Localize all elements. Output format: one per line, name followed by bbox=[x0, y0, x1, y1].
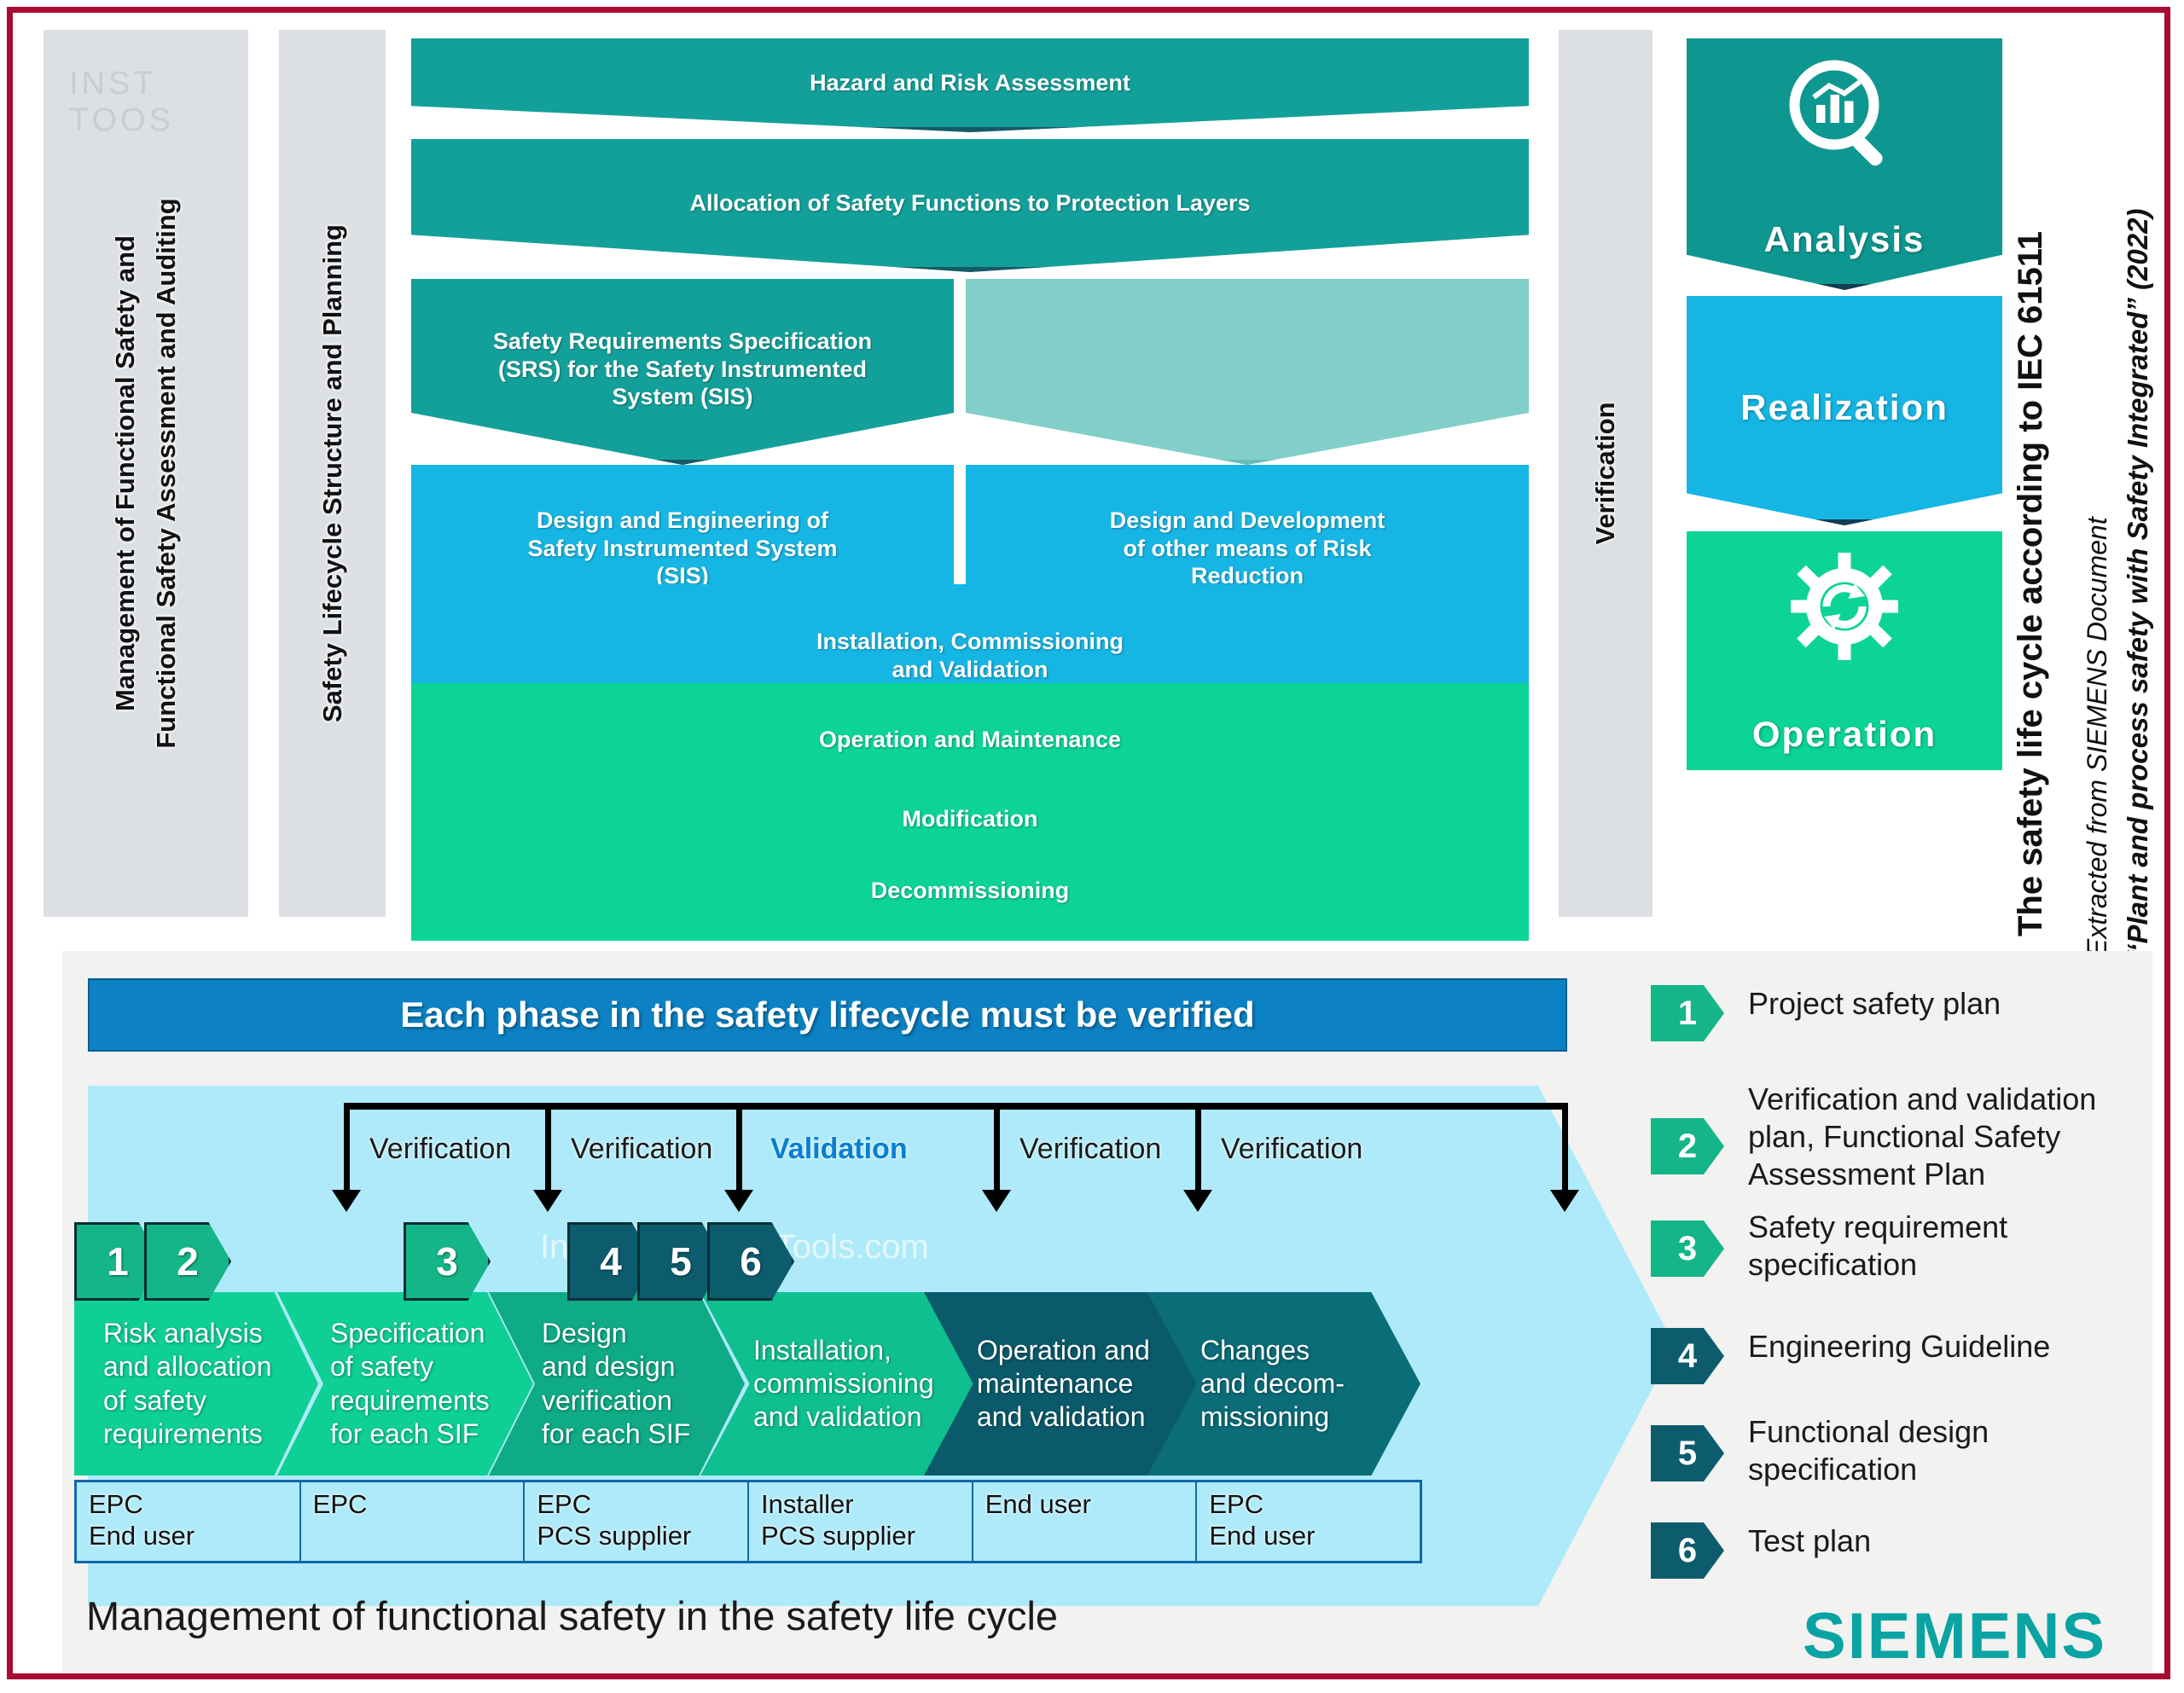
step-line: and design bbox=[542, 1350, 690, 1383]
step-line: of safety bbox=[330, 1350, 490, 1383]
legend-line: Functional design bbox=[1748, 1413, 1989, 1451]
column-management-of-functional-safety: INST TOOS Management of Functional Safet… bbox=[44, 30, 248, 917]
responsibility-line: EPC bbox=[89, 1489, 299, 1521]
legend-line: specification bbox=[1748, 1451, 1989, 1488]
top-panel: INST TOOS Management of Functional Safet… bbox=[32, 23, 2156, 923]
legend-text-3: Safety requirement specification bbox=[1748, 1209, 2007, 1284]
phase-blocks: Analysis Realization bbox=[1687, 38, 2002, 917]
chevron-label-line: Design and Engineering of bbox=[527, 507, 837, 535]
bottom-panel: Each phase in the safety lifecycle must … bbox=[62, 951, 2152, 1672]
legend-number: 6 bbox=[1678, 1532, 1697, 1570]
legend-badge-3: 3 bbox=[1651, 1220, 1724, 1277]
responsibility-cell: EPC End user bbox=[1197, 1482, 1420, 1561]
badge-number: 4 bbox=[600, 1238, 622, 1284]
right-subtitle-line2: “Plant and process safety with Safety In… bbox=[2122, 209, 2154, 958]
legend-line: Test plan bbox=[1748, 1522, 1871, 1560]
step-line: missioning bbox=[1200, 1400, 1345, 1434]
chevron-label: Operation and Maintenance bbox=[819, 726, 1121, 754]
responsibility-line: EPC bbox=[313, 1489, 524, 1521]
badge-number: 6 bbox=[740, 1238, 762, 1284]
legend-line: plan, Functional Safety bbox=[1748, 1118, 2096, 1156]
legend: 1 Project safety plan 2 Verification and… bbox=[1651, 977, 2146, 1591]
responsibility-row: EPC End user EPC EPC PCS supplier Instal… bbox=[74, 1480, 1422, 1563]
column1-line1: Management of Functional Safety and bbox=[105, 198, 146, 748]
chevron-label-line: and Validation bbox=[816, 656, 1124, 684]
siemens-logo: SIEMENS bbox=[1803, 1599, 2106, 1673]
chevron-label-line: Installation, Commissioning bbox=[816, 628, 1124, 656]
chevron-label-line: Safety Instrumented System bbox=[527, 535, 837, 563]
chevron-allocation-of-safety-functions: Allocation of Safety Functions to Protec… bbox=[411, 139, 1529, 272]
chevron-decommissioning: Decommissioning bbox=[411, 840, 1529, 941]
step-line: Operation and bbox=[977, 1334, 1150, 1367]
step-line: Installation, bbox=[753, 1334, 934, 1367]
step-line: requirements bbox=[330, 1384, 490, 1418]
chevron-label-line: (SRS) for the Safety Instrumented bbox=[493, 356, 872, 384]
legend-line: Verification and validation bbox=[1748, 1081, 2096, 1118]
badge-number: 1 bbox=[107, 1238, 129, 1284]
step-line: Specification bbox=[330, 1317, 490, 1350]
legend-number: 4 bbox=[1678, 1337, 1697, 1376]
legend-number: 5 bbox=[1678, 1435, 1697, 1473]
phase-block-operation: Operation bbox=[1687, 531, 2002, 770]
chevron-label: Allocation of Safety Functions to Protec… bbox=[689, 189, 1250, 217]
chevron-other-risk-reduction-placeholder bbox=[966, 279, 1529, 465]
chevron-label-line: Design and Development bbox=[1110, 507, 1385, 535]
legend-text-6: Test plan bbox=[1748, 1522, 1871, 1560]
responsibility-cell: Installer PCS supplier bbox=[749, 1482, 973, 1561]
step-line: commissioning bbox=[753, 1367, 934, 1400]
legend-line: Project safety plan bbox=[1748, 985, 2001, 1023]
verification-column-label: Verification bbox=[1590, 402, 1621, 544]
step-badge-3: 3 bbox=[404, 1222, 491, 1301]
responsibility-line: End user bbox=[1209, 1521, 1420, 1552]
step-line: maintenance bbox=[977, 1367, 1150, 1400]
legend-line: Assessment Plan bbox=[1748, 1156, 2096, 1193]
column-verification: Verification bbox=[1559, 30, 1653, 917]
chevron-label-line: System (SIS) bbox=[493, 383, 872, 411]
badge-number: 2 bbox=[177, 1238, 199, 1284]
legend-number: 1 bbox=[1678, 994, 1697, 1033]
badge-number: 5 bbox=[670, 1238, 692, 1284]
legend-item-1: 1 Project safety plan bbox=[1651, 985, 2001, 1041]
legend-item-4: 4 Engineering Guideline bbox=[1651, 1328, 2050, 1384]
responsibility-line: PCS supplier bbox=[537, 1521, 747, 1552]
legend-line: specification bbox=[1748, 1246, 2007, 1284]
step-badge-2: 2 bbox=[144, 1222, 231, 1301]
legend-item-5: 5 Functional design specification bbox=[1651, 1413, 1989, 1488]
step-line: and decom- bbox=[1200, 1367, 1345, 1400]
phase-label: Analysis bbox=[1764, 219, 1926, 260]
poster-frame: INST TOOS Management of Functional Safet… bbox=[7, 7, 2170, 1679]
step-line: and validation bbox=[977, 1400, 1150, 1434]
responsibility-cell: EPC PCS supplier bbox=[525, 1482, 749, 1561]
legend-text-2: Verification and validation plan, Functi… bbox=[1748, 1081, 2096, 1193]
legend-item-6: 6 Test plan bbox=[1651, 1522, 1871, 1579]
legend-badge-4: 4 bbox=[1651, 1328, 1724, 1384]
chevron-label: Hazard and Risk Assessment bbox=[810, 69, 1130, 97]
responsibility-line: End user bbox=[89, 1521, 299, 1552]
legend-text-4: Engineering Guideline bbox=[1748, 1328, 2050, 1365]
phase-block-realization: Realization bbox=[1687, 296, 2002, 525]
responsibility-line: EPC bbox=[537, 1489, 747, 1521]
legend-number: 3 bbox=[1678, 1230, 1697, 1268]
chevron-hazard-and-risk-assessment: Hazard and Risk Assessment bbox=[411, 38, 1529, 132]
gear-refresh-icon bbox=[1776, 545, 1913, 673]
responsibility-line: End user bbox=[985, 1489, 1196, 1521]
legend-badge-6: 6 bbox=[1651, 1522, 1724, 1579]
column-safety-lifecycle-structure-and-planning: Safety Lifecycle Structure and Planning bbox=[279, 30, 386, 917]
legend-badge-1: 1 bbox=[1651, 985, 1724, 1041]
responsibility-line: EPC bbox=[1209, 1489, 1420, 1521]
responsibility-cell: End user bbox=[973, 1482, 1198, 1561]
step-line: Design bbox=[542, 1317, 690, 1350]
chevron-label: Modification bbox=[903, 805, 1038, 833]
legend-item-3: 3 Safety requirement specification bbox=[1651, 1209, 2007, 1284]
magnifier-chart-icon bbox=[1780, 54, 1908, 182]
legend-item-2: 2 Verification and validation plan, Func… bbox=[1651, 1081, 2096, 1193]
column1-line2: Functional Safety Assessment and Auditin… bbox=[146, 198, 187, 748]
phase-label: Operation bbox=[1752, 714, 1937, 755]
legend-text-5: Functional design specification bbox=[1748, 1413, 1989, 1488]
legend-badge-2: 2 bbox=[1651, 1118, 1724, 1174]
step-line: for each SIF bbox=[330, 1418, 490, 1451]
phase-block-analysis: Analysis bbox=[1687, 38, 2002, 290]
legend-line: Safety requirement bbox=[1748, 1209, 2007, 1246]
right-subtitle-line1: Extracted from SIEMENS Document bbox=[2082, 517, 2113, 957]
legend-line: Engineering Guideline bbox=[1748, 1328, 2050, 1365]
step-line: requirements bbox=[103, 1418, 271, 1451]
phase-label: Realization bbox=[1740, 387, 1949, 428]
step-line: of safety bbox=[103, 1384, 271, 1418]
step-line: and validation bbox=[753, 1400, 934, 1434]
step-line: Risk analysis bbox=[103, 1317, 271, 1350]
lifecycle-chevron-stack: Hazard and Risk Assessment Allocation of… bbox=[411, 38, 1529, 917]
legend-badge-5: 5 bbox=[1651, 1425, 1724, 1481]
responsibility-line: PCS supplier bbox=[761, 1521, 972, 1552]
step-line: and allocation bbox=[103, 1350, 271, 1383]
right-title: The safety life cycle according to IEC 6… bbox=[2012, 231, 2050, 936]
process-step-risk-analysis: Risk analysis and allocation of safety r… bbox=[74, 1292, 318, 1476]
step-badge-6: 6 bbox=[707, 1222, 794, 1301]
badge-number: 3 bbox=[436, 1238, 458, 1284]
chevron-label: Decommissioning bbox=[871, 877, 1070, 905]
legend-text-1: Project safety plan bbox=[1748, 985, 2001, 1023]
bottom-caption: Management of functional safety in the s… bbox=[86, 1592, 1058, 1639]
step-line: Changes bbox=[1200, 1334, 1345, 1367]
chevron-label-line: Safety Requirements Specification bbox=[493, 328, 872, 356]
right-side-captions: The safety life cycle according to IEC 6… bbox=[1994, 38, 2164, 917]
step-line: for each SIF bbox=[542, 1418, 690, 1451]
step-line: verification bbox=[542, 1384, 690, 1418]
responsibility-cell: EPC bbox=[301, 1482, 526, 1561]
responsibility-line: Installer bbox=[761, 1489, 972, 1521]
watermark-inst-tools: INST TOOS bbox=[69, 66, 248, 139]
chevron-safety-requirements-specification-srs: Safety Requirements Specification (SRS) … bbox=[411, 279, 954, 465]
legend-number: 2 bbox=[1678, 1128, 1697, 1166]
chevron-label-line: of other means of Risk bbox=[1110, 535, 1385, 563]
column2-label: Safety Lifecycle Structure and Planning bbox=[317, 224, 348, 722]
responsibility-cell: EPC End user bbox=[77, 1482, 301, 1561]
